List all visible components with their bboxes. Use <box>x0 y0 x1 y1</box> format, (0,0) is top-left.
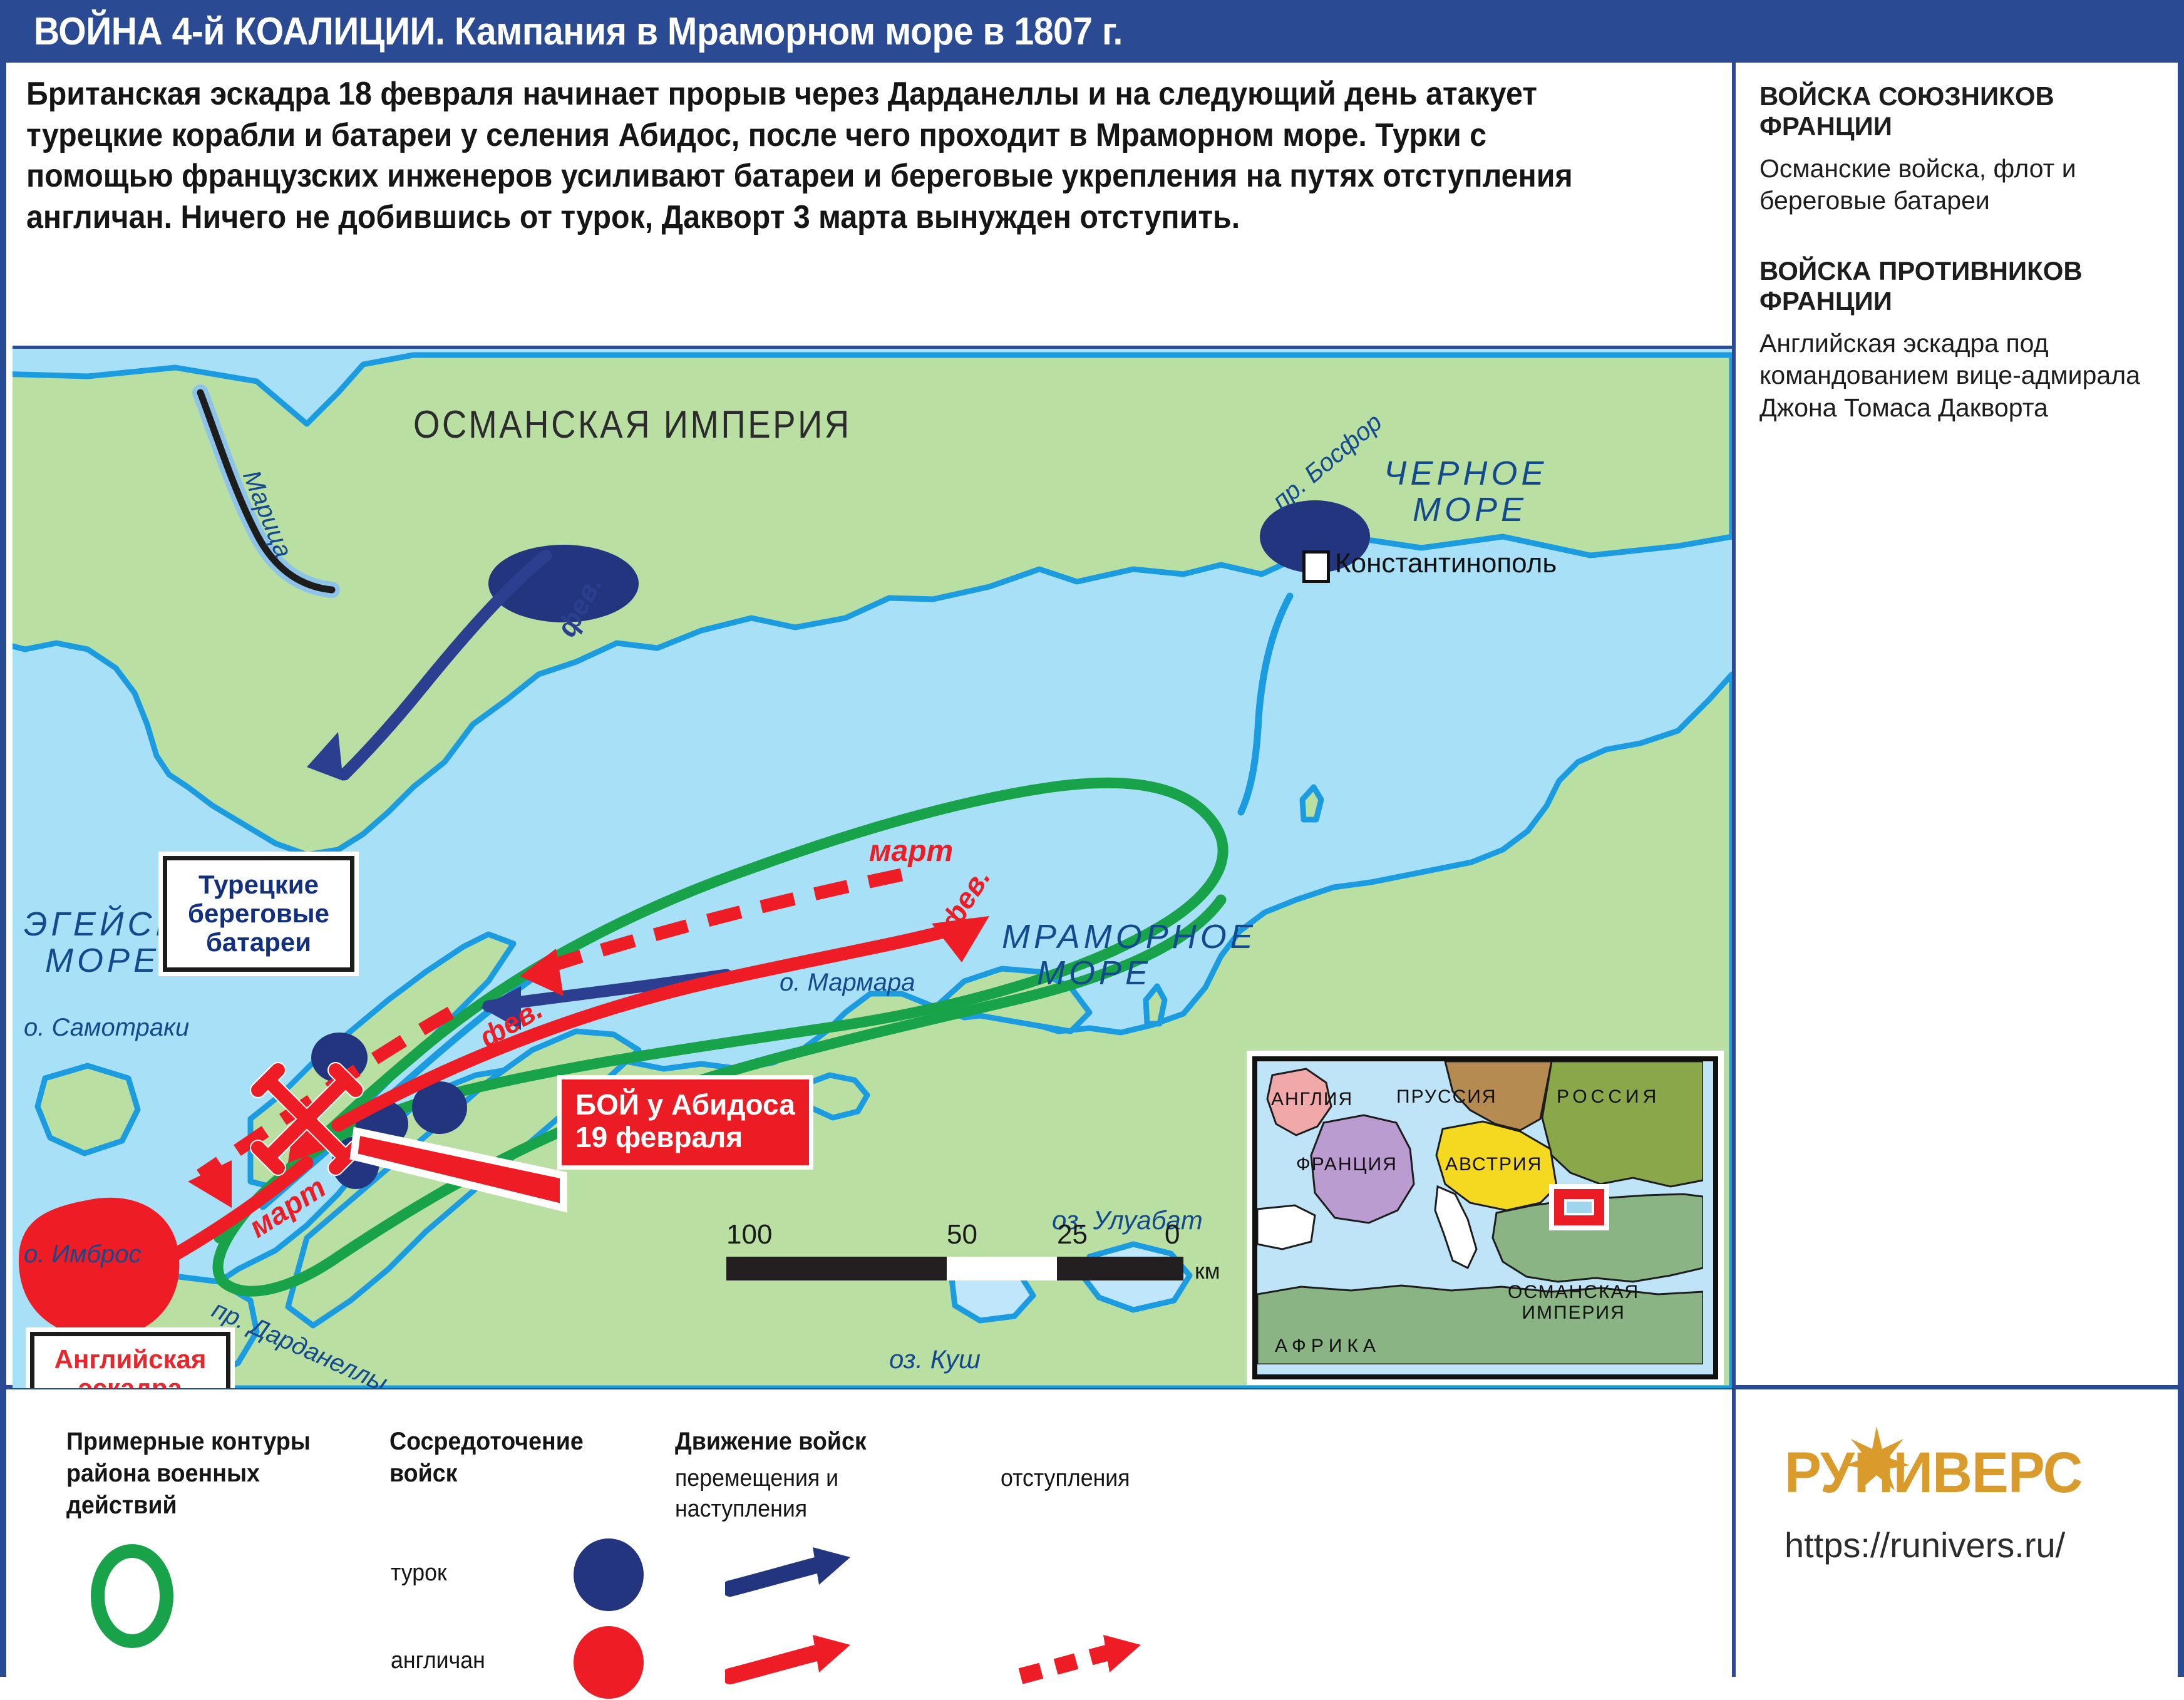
scale-unit: км <box>1195 1258 1220 1284</box>
vertical-divider-top <box>1732 63 1736 1388</box>
scale-tick-100: 100 <box>726 1219 772 1250</box>
scale-tick-0: 0 <box>1165 1219 1180 1250</box>
callout-line: береговые <box>180 899 337 928</box>
legend-swatch-arrow-retreat <box>1016 1631 1153 1700</box>
callout-line: Турецкие <box>180 870 337 899</box>
legend-row-label-turks: турок <box>391 1560 447 1587</box>
page-title: ВОЙНА 4-й КОАЛИЦИИ. Кампания в Мраморном… <box>34 9 1123 54</box>
legend-swatch-arrow-english <box>725 1631 863 1700</box>
callout-line: БОЙ у Абидоса <box>575 1088 795 1121</box>
legend-row-label-english: англичан <box>391 1647 485 1674</box>
move-label-mart-red-upper: март <box>869 834 953 868</box>
callout-line: эскадра <box>46 1374 215 1388</box>
legend-heading-concentration: Сосредоточение войск <box>389 1426 584 1490</box>
map-label-ottoman-empire: ОСМАНСКАЯ ИМПЕРИЯ <box>413 403 852 447</box>
callout-turkish-batteries: Турецкие береговые батареи <box>163 856 354 972</box>
brand-block[interactable]: РУНИВЕРС https://runivers.ru/ <box>1785 1440 2135 1565</box>
callout-line: Английская <box>46 1345 215 1374</box>
sidebar-allies-heading: ВОЙСКА СОЮЗНИКОВ ФРАНЦИИ <box>1759 81 2160 142</box>
inset-label-france: ФРАНЦИЯ <box>1296 1154 1398 1175</box>
scale-tick-50: 50 <box>947 1219 977 1250</box>
inset-overview-map[interactable]: АНГЛИЯ ПРУССИЯ РОССИЯ ФРАНЦИЯ АВСТРИЯ ОС… <box>1252 1056 1718 1379</box>
title-bar: ВОЙНА 4-й КОАЛИЦИИ. Кампания в Мраморном… <box>6 0 2178 63</box>
inset-label-england: АНГЛИЯ <box>1271 1089 1353 1110</box>
legend-swatch-arrow-turks <box>725 1543 863 1612</box>
sidebar: ВОЙСКА СОЮЗНИКОВ ФРАНЦИИ Османские войск… <box>1759 81 2160 463</box>
city-marker-constantinople <box>1302 550 1330 583</box>
brand-name: РУНИВЕРС <box>1785 1440 2121 1506</box>
callout-line: батареи <box>180 928 337 957</box>
inset-label-russia: РОССИЯ <box>1557 1086 1660 1107</box>
legend-panel: Примерные контуры района военных действи… <box>6 1389 1732 1677</box>
inset-label-prussia: ПРУССИЯ <box>1396 1086 1497 1107</box>
sidebar-allies-text: Османские войска, флот и береговые батар… <box>1759 153 2160 217</box>
vertical-divider-bottom <box>1732 1385 1736 1677</box>
legend-sub-advance: перемещения и наступления <box>675 1463 881 1524</box>
legend-swatch-blob-english <box>570 1625 651 1700</box>
inset-label-ottoman-empire: ОСМАНСКАЯ ИМПЕРИЯ <box>1508 1282 1639 1323</box>
legend-sub-retreat: отступления <box>1001 1463 1201 1494</box>
legend-swatch-area-contour <box>85 1540 179 1652</box>
scale-tick-25: 25 <box>1057 1219 1088 1250</box>
legend-swatch-blob-turks <box>570 1537 651 1612</box>
main-map[interactable]: ОСМАНСКАЯ ИМПЕРИЯ ЧЕРНОЕ МОРЕ МРАМОРНОЕ … <box>13 346 1732 1388</box>
callout-english-squadron: Английская эскадра Дакворта <box>30 1332 230 1388</box>
inset-label-africa: АФРИКА <box>1275 1336 1381 1356</box>
map-scale-bar: 100 50 25 0 км <box>726 1219 1190 1280</box>
sidebar-enemies-text: Английская эскадра под командованием виц… <box>1759 327 2160 425</box>
map-label-constantinople: Константинополь <box>1335 548 1557 579</box>
legend-heading-area: Примерные контуры района военных действи… <box>66 1426 314 1522</box>
callout-line: 19 февраля <box>575 1121 795 1153</box>
intro-paragraph: Британская эскадра 18 февраля начинает п… <box>26 74 1593 238</box>
poster-page: ВОЙНА 4-й КОАЛИЦИИ. Кампания в Мраморном… <box>0 0 2184 1677</box>
inset-label-austria: АВСТРИЯ <box>1445 1154 1542 1175</box>
sidebar-enemies-heading: ВОЙСКА ПРОТИВНИКОВ ФРАНЦИИ <box>1759 256 2160 316</box>
legend-heading-movement: Движение войск <box>675 1426 922 1458</box>
callout-battle-abidos: БОЙ у Абидоса 19 февраля <box>557 1075 813 1170</box>
brand-url[interactable]: https://runivers.ru/ <box>1785 1525 2135 1565</box>
